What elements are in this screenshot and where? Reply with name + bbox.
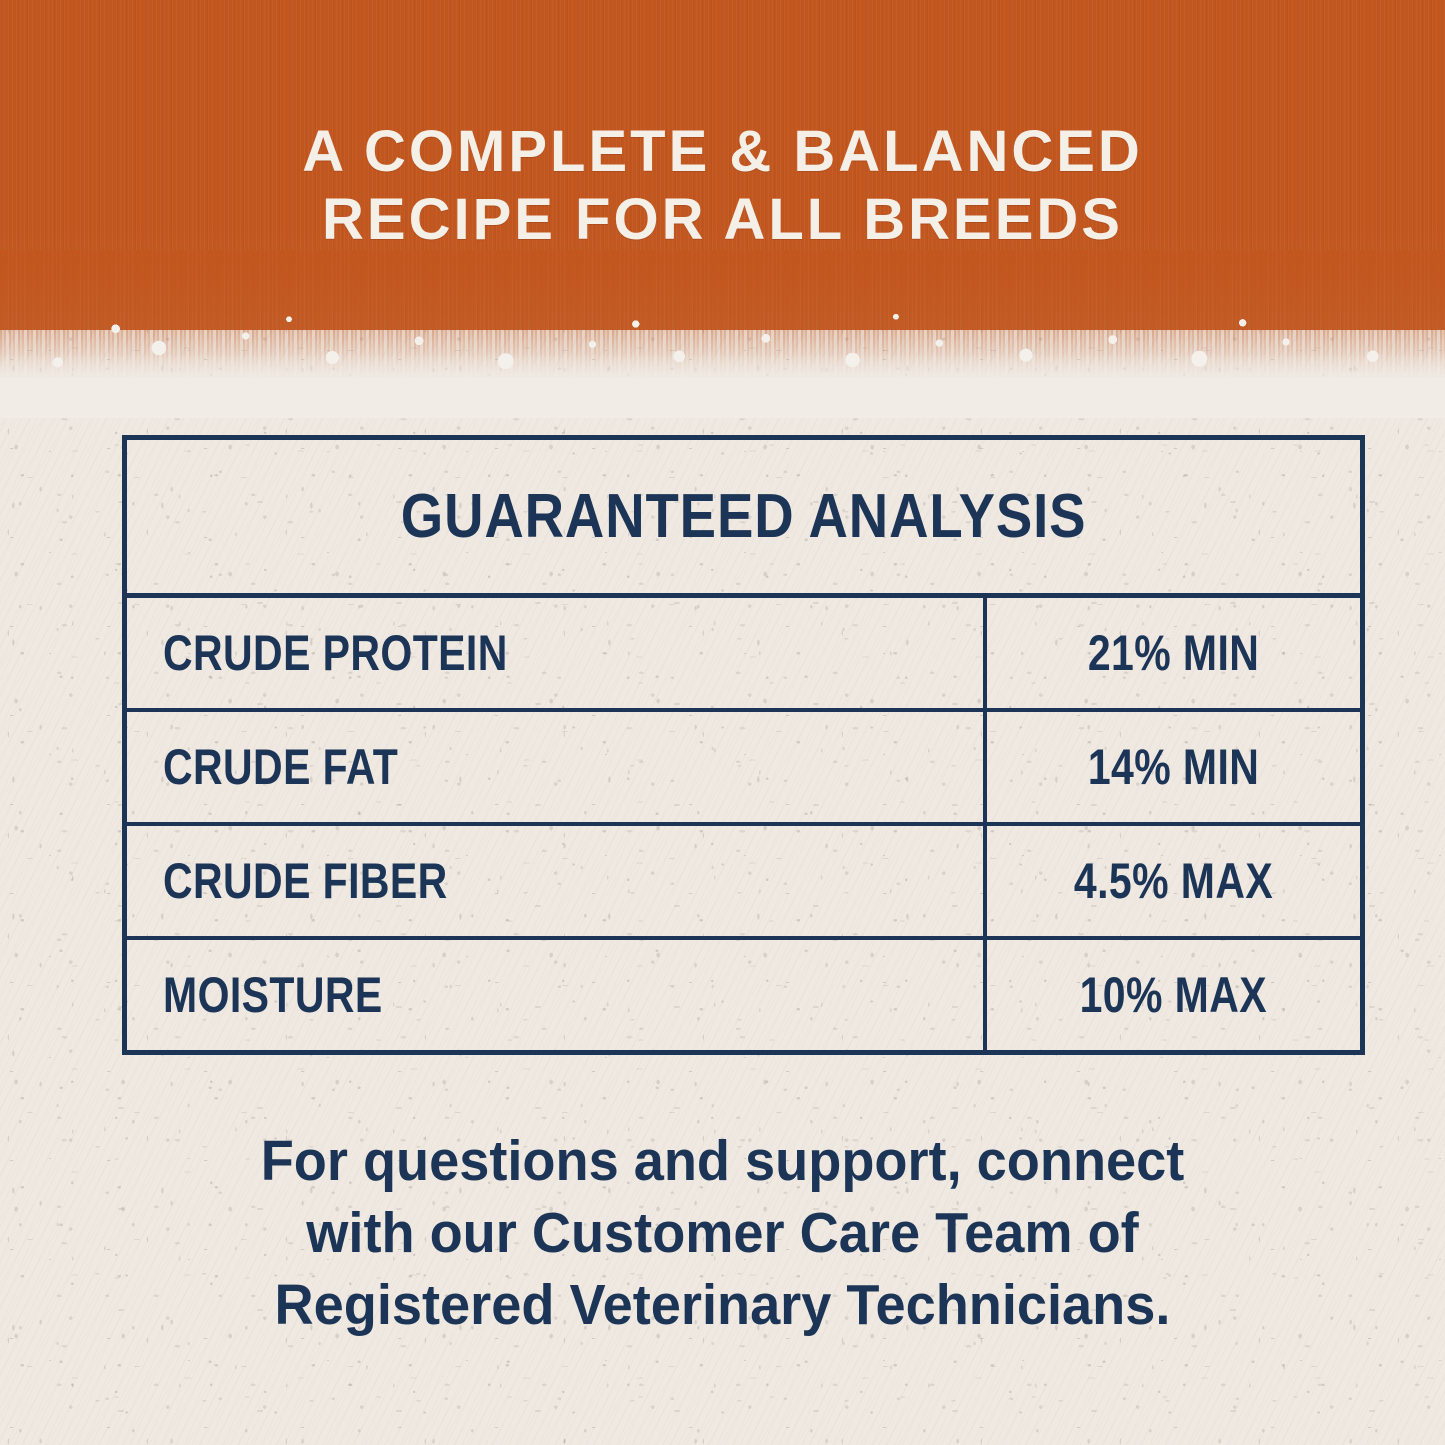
nutrient-label-cell: CRUDE PROTEIN: [127, 598, 987, 708]
nutrient-label-cell: CRUDE FIBER: [127, 826, 987, 936]
nutrient-label: CRUDE PROTEIN: [163, 624, 508, 682]
table-row: MOISTURE 10% MAX: [127, 940, 1360, 1050]
banner-base-fill: [0, 378, 1445, 418]
nutrient-value-cell: 10% MAX: [987, 940, 1360, 1050]
guaranteed-analysis-header: GUARANTEED ANALYSIS: [127, 440, 1360, 598]
customer-care-line-1: For questions and support, connect: [141, 1125, 1305, 1197]
nutrient-value-cell: 4.5% MAX: [987, 826, 1360, 936]
customer-care-line-2: with our Customer Care Team of: [141, 1197, 1305, 1269]
guaranteed-analysis-rows: CRUDE PROTEIN 21% MIN CRUDE FAT 14% MIN …: [127, 598, 1360, 1050]
nutrient-value: 4.5% MAX: [1074, 852, 1273, 910]
nutrient-label: CRUDE FIBER: [163, 852, 448, 910]
customer-care-line-3: Registered Veterinary Technicians.: [141, 1269, 1305, 1341]
table-row: CRUDE PROTEIN 21% MIN: [127, 598, 1360, 712]
nutrient-value-cell: 14% MIN: [987, 712, 1360, 822]
customer-care-message: For questions and support, connect with …: [0, 1125, 1445, 1341]
banner-title-line-2: RECIPE FOR ALL BREEDS: [0, 186, 1445, 254]
nutrient-value: 10% MAX: [1080, 966, 1267, 1024]
nutrient-label-cell: MOISTURE: [127, 940, 987, 1050]
guaranteed-analysis-table: GUARANTEED ANALYSIS CRUDE PROTEIN 21% MI…: [122, 435, 1365, 1055]
banner-title: A COMPLETE & BALANCED RECIPE FOR ALL BRE…: [0, 0, 1445, 254]
table-row: CRUDE FAT 14% MIN: [127, 712, 1360, 826]
nutrient-value-cell: 21% MIN: [987, 598, 1360, 708]
nutrient-value: 14% MIN: [1088, 738, 1259, 796]
banner-title-line-1: A COMPLETE & BALANCED: [302, 119, 1143, 184]
nutrient-value: 21% MIN: [1088, 624, 1259, 682]
nutrient-label-cell: CRUDE FAT: [127, 712, 987, 822]
guaranteed-analysis-title: GUARANTEED ANALYSIS: [401, 481, 1087, 552]
table-row: CRUDE FIBER 4.5% MAX: [127, 826, 1360, 940]
nutrient-label: CRUDE FAT: [163, 738, 398, 796]
nutrient-label: MOISTURE: [163, 966, 383, 1024]
